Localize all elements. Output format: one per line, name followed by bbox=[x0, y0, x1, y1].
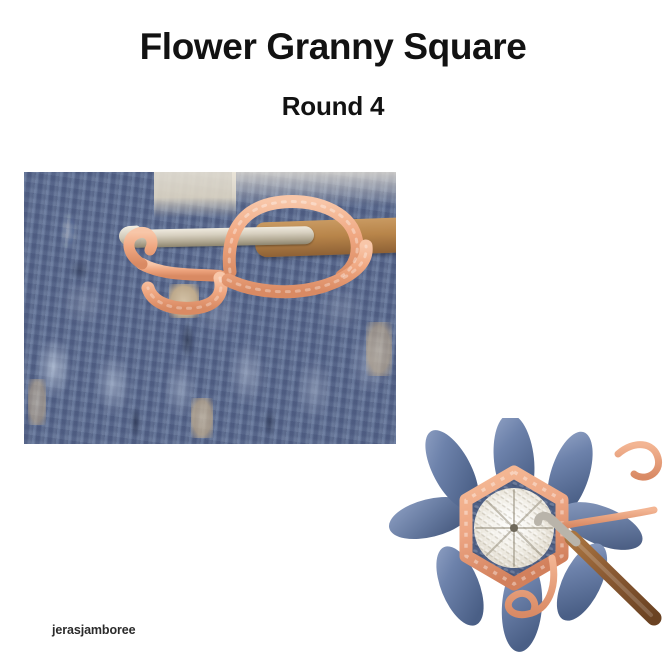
flower-center-hole bbox=[510, 524, 518, 532]
page-subtitle: Round 4 bbox=[0, 92, 666, 122]
page-root: Flower Granny Square Round 4 bbox=[0, 0, 666, 666]
watermark-label: jerasjamboree bbox=[52, 623, 135, 637]
crochet-progress-photo bbox=[24, 172, 396, 444]
photo-peach-yarn bbox=[24, 172, 396, 444]
crochet-flower-motif bbox=[386, 418, 666, 666]
page-title: Flower Granny Square bbox=[0, 26, 666, 69]
